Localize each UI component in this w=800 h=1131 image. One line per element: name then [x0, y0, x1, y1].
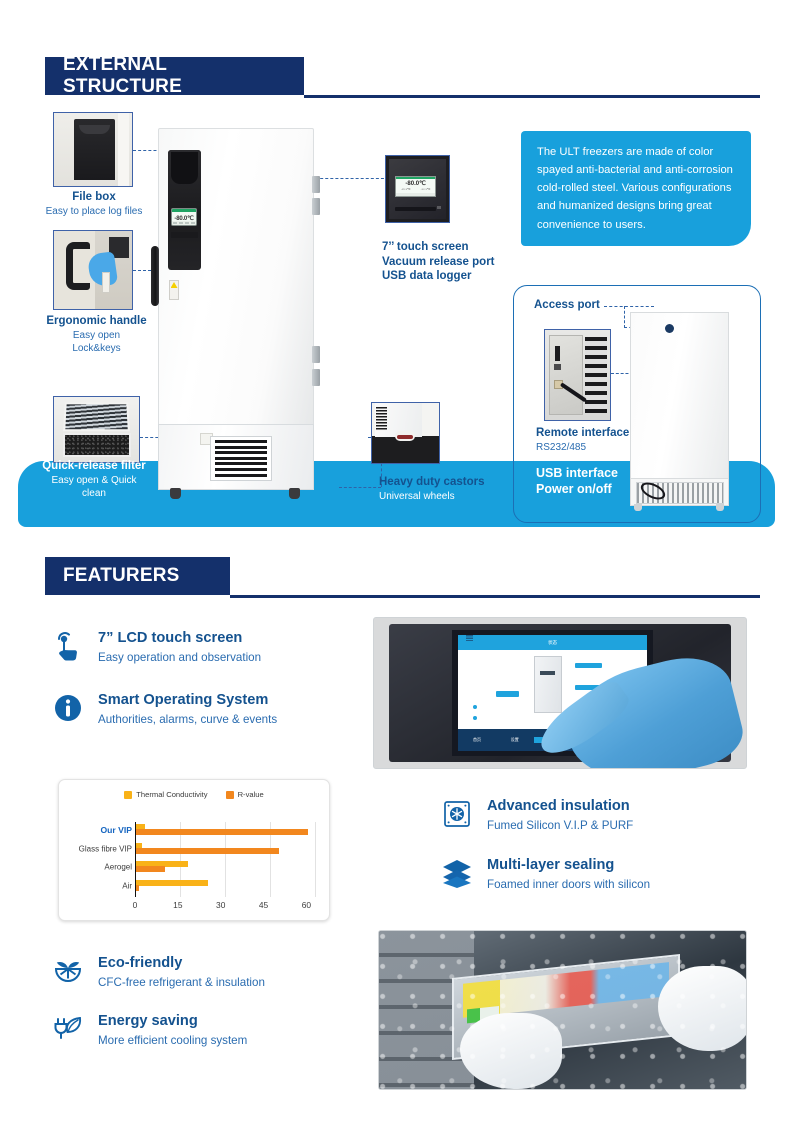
label-castors-sub: Universal wheels: [379, 490, 529, 503]
castor-image: [372, 403, 439, 463]
legend-label-thermal-conductivity: Thermal Conductivity: [136, 790, 207, 799]
remote-interface-image: [545, 330, 610, 420]
feature-item-multi-layer-sealing: Multi-layer sealing Foamed inner doors w…: [441, 857, 761, 891]
touchscreen-nav-home[interactable]: 首页: [458, 737, 496, 743]
feature-text: Smart Operating System Authorities, alar…: [98, 692, 277, 726]
feature-text: 7” LCD touch screen Easy operation and o…: [98, 630, 261, 664]
freezer-display-navbar: [172, 221, 196, 225]
label-file-box-sub: Easy to place log files: [33, 205, 155, 218]
label-file-box-title: File box: [33, 190, 155, 205]
touchscreen-status-dot: [473, 705, 477, 709]
vent-slat: [215, 457, 267, 460]
photo-quick-release-filter: [53, 396, 140, 463]
touchscreen-status-dot: [473, 716, 477, 720]
feature-text: Multi-layer sealing Foamed inner doors w…: [487, 857, 650, 891]
feature-item-lcd-touch-screen: 7” LCD touch screen Easy operation and o…: [52, 630, 352, 664]
handle-lock-key: [102, 272, 110, 294]
photo-remote-interface: [544, 329, 611, 421]
photo-sample-rack: [378, 930, 747, 1090]
freezer-display-nav-item: [173, 222, 177, 224]
label-handle-title: Ergonomic handle: [38, 314, 155, 329]
touch-screen-titlebar: [396, 177, 436, 179]
file-box-pocket: [74, 119, 115, 180]
remote-plate: [549, 335, 583, 414]
vent-slat: [215, 446, 267, 449]
freezer-castor-right: [289, 488, 300, 499]
freezer-display-nav-item: [185, 222, 189, 224]
access-port-hole: [665, 324, 674, 333]
freezer-rear-foot-left: [634, 504, 642, 511]
chart-category-label: Glass fibre VIP: [79, 844, 132, 853]
legend-swatch-r-value: [226, 791, 234, 799]
connector-access-port: [604, 306, 654, 307]
chart-x-tick: 15: [173, 900, 182, 910]
filter-image: [54, 397, 139, 462]
feature-sub: CFC-free refrigerant & insulation: [98, 976, 265, 989]
label-filter-sub2: clean: [33, 487, 155, 500]
label-castors-title: Heavy duty castors: [379, 475, 529, 490]
photo-file-box: [53, 112, 133, 187]
handle-grip: [66, 242, 89, 290]
usb-port: [554, 364, 561, 370]
frost-texture: [379, 931, 746, 1089]
touchscreen-value-chip[interactable]: [496, 691, 519, 697]
section-title-bar-features: FEATURERS: [45, 557, 230, 595]
photo-touch-screen: -80.0℃ -xx.x℃ -xx.x℃: [385, 155, 450, 223]
label-quick-release-filter: Quick-release filter Easy open & Quick c…: [33, 459, 155, 500]
feature-sub: More efficient cooling system: [98, 1034, 247, 1047]
label-touch-line2: Vacuum release port: [382, 255, 572, 270]
vent-slat: [215, 451, 267, 454]
touch-screen-temp: -80.0℃: [396, 180, 436, 187]
insulation-comparison-chart: Thermal Conductivity R-value Our VIPGlas…: [58, 779, 330, 921]
freezer-doc-pocket: [171, 152, 198, 184]
feature-item-energy-saving: Energy saving More efficient cooling sys…: [52, 1013, 372, 1047]
handle-image: [54, 231, 132, 309]
freezer-rear-foot-right: [716, 504, 724, 511]
filter-lid: [63, 403, 129, 431]
feature-title: Smart Operating System: [98, 692, 277, 710]
chart-legend-item: Thermal Conductivity: [124, 790, 207, 799]
chart-bars-container: [135, 822, 315, 897]
chart-gridline: [315, 822, 316, 897]
label-filter-title: Quick-release filter: [33, 459, 155, 474]
touchscreen-title-text: 状态: [548, 640, 557, 646]
freezer-hinge-bottom: [312, 369, 320, 386]
info-circle-icon: [52, 692, 86, 726]
chart-x-tick: 60: [302, 900, 311, 910]
touch-screen-subvals: -xx.x℃ -xx.x℃: [396, 187, 436, 191]
feature-text: Advanced insulation Fumed Silicon V.I.P …: [487, 798, 633, 832]
snowflake-panel-icon: [441, 798, 475, 832]
label-ergonomic-handle: Ergonomic handle Easy open Lock&keys: [38, 314, 155, 355]
chart-legend: Thermal Conductivity R-value: [59, 790, 329, 799]
photo-heavy-duty-castors: [371, 402, 440, 464]
feature-title: 7” LCD touch screen: [98, 630, 261, 648]
warning-triangle-icon: [171, 282, 178, 288]
feature-text: Energy saving More efficient cooling sys…: [98, 1013, 247, 1047]
touch-screen-led: [437, 206, 441, 209]
section-title-features: FEATURERS: [63, 565, 180, 587]
chart-bar: [136, 880, 207, 886]
chart-legend-item: R-value: [226, 790, 264, 799]
file-box-wall: [118, 113, 129, 186]
freezer-hinge-lower: [312, 346, 320, 363]
touchscreen-value-chip[interactable]: [575, 663, 601, 669]
callout-text: The ULT freezers are made of color spaye…: [537, 146, 733, 231]
vent-slat: [215, 440, 267, 443]
freezer-display-nav-item: [191, 222, 195, 224]
feature-sub: Foamed inner doors with silicon: [487, 878, 650, 891]
freezer-hinge-top: [312, 176, 320, 193]
vent-slat: [215, 474, 267, 477]
power-switch: [555, 346, 560, 361]
feature-title: Multi-layer sealing: [487, 857, 650, 875]
filter-mat: [63, 433, 131, 456]
chart-category-label: Air: [122, 882, 132, 891]
touch-screen-sub-right: -xx.x℃: [421, 187, 431, 191]
feature-sub: Authorities, alarms, curve & events: [98, 713, 277, 726]
freezer-display-titlebar: [172, 209, 196, 212]
label-touch-screen: 7’’ touch screen Vacuum release port USB…: [382, 240, 572, 284]
chart-category-labels: Our VIPGlass fibre VIPAerogelAir: [59, 822, 132, 897]
section-title-external: EXTERNAL STRUCTURE: [63, 54, 286, 98]
feature-item-advanced-insulation: Advanced insulation Fumed Silicon V.I.P …: [441, 798, 761, 832]
chart-x-tick-labels: 015304560: [135, 900, 315, 914]
file-box-image: [54, 113, 132, 186]
label-handle-sub1: Easy open: [38, 329, 155, 342]
section-header-features: FEATURERS: [45, 557, 760, 597]
feature-title: Eco-friendly: [98, 955, 265, 973]
vent-slat: [215, 462, 267, 465]
label-file-box: File box Easy to place log files: [33, 190, 155, 218]
touchscreen-titlebar: 状态: [458, 635, 647, 650]
feature-sub: Easy operation and observation: [98, 651, 261, 664]
chart-x-tick: 0: [133, 900, 138, 910]
feature-text: Eco-friendly CFC-free refrigerant & insu…: [98, 955, 265, 989]
freezer-rear-cabinet: [630, 312, 729, 480]
chart-category-label: Aerogel: [104, 863, 132, 872]
legend-label-r-value: R-value: [238, 790, 264, 799]
legend-swatch-thermal-conductivity: [124, 791, 132, 799]
touch-screen-sub-left: -xx.x℃: [401, 187, 411, 191]
label-handle-sub2: Lock&keys: [38, 342, 155, 355]
chart-bar: [136, 866, 165, 872]
feature-title: Advanced insulation: [487, 798, 633, 816]
remote-vent-fins: [585, 337, 607, 413]
label-touch-line3: USB data logger: [382, 269, 572, 284]
freezer-display: -80.0℃ -xx.x℃ -xx.x℃: [171, 208, 197, 226]
photo-touchscreen-in-use: 状态 首页 设置 状态 报警 记录: [373, 617, 747, 769]
feature-sub: Fumed Silicon V.I.P & PURF: [487, 819, 633, 832]
freezer-castor-left: [170, 488, 181, 499]
touch-screen-navbar: [396, 193, 436, 196]
castor-grill: [376, 407, 387, 431]
label-heavy-duty-castors: Heavy duty castors Universal wheels: [379, 475, 529, 503]
freezer-lock-plate: [169, 280, 179, 300]
freezer-door-handle: [151, 246, 159, 306]
section-underline-external: [304, 95, 760, 98]
chart-x-tick: 45: [259, 900, 268, 910]
freezer-hinge-upper: [312, 198, 320, 215]
callout-external-structure: The ULT freezers are made of color spaye…: [521, 131, 751, 246]
feature-item-eco-friendly: Eco-friendly CFC-free refrigerant & insu…: [52, 955, 372, 989]
touch-screen-display: -80.0℃ -xx.x℃ -xx.x℃: [395, 176, 437, 197]
touchscreen-nav-settings[interactable]: 设置: [496, 737, 534, 743]
layers-icon: [441, 857, 475, 891]
feature-item-smart-operating-system: Smart Operating System Authorities, alar…: [52, 692, 352, 726]
freezer-usb-slot: [171, 232, 198, 238]
section-underline-features: [230, 595, 760, 598]
chart-x-tick: 30: [216, 900, 225, 910]
touch-hand-icon: [52, 630, 86, 664]
eco-leaf-icon: [52, 955, 86, 989]
label-filter-sub1: Easy open & Quick: [33, 474, 155, 487]
chart-category-label: Our VIP: [100, 825, 132, 835]
freezer-condenser-vent: [210, 436, 272, 481]
section-header-external: EXTERNAL STRUCTURE: [45, 57, 760, 97]
chart-plot-area: [135, 822, 315, 897]
section-title-bar-external: EXTERNAL STRUCTURE: [45, 57, 304, 95]
freezer-rear-illustration: [624, 312, 734, 518]
chart-bar: [136, 829, 307, 835]
photo-ergonomic-handle: [53, 230, 133, 310]
vent-slat: [215, 468, 267, 471]
chart-bar: [136, 848, 279, 854]
plug-leaf-icon: [52, 1013, 86, 1047]
castor-wheel: [395, 431, 415, 442]
freezer-display-nav-item: [179, 222, 183, 224]
touchscreen-unit-diagram: [534, 656, 562, 713]
hamburger-menu-icon[interactable]: [466, 635, 473, 641]
touch-screen-slot: [395, 207, 437, 212]
chart-bar: [136, 885, 139, 891]
freezer-illustration: -80.0℃ -xx.x℃ -xx.x℃: [158, 128, 363, 503]
feature-title: Energy saving: [98, 1013, 247, 1031]
